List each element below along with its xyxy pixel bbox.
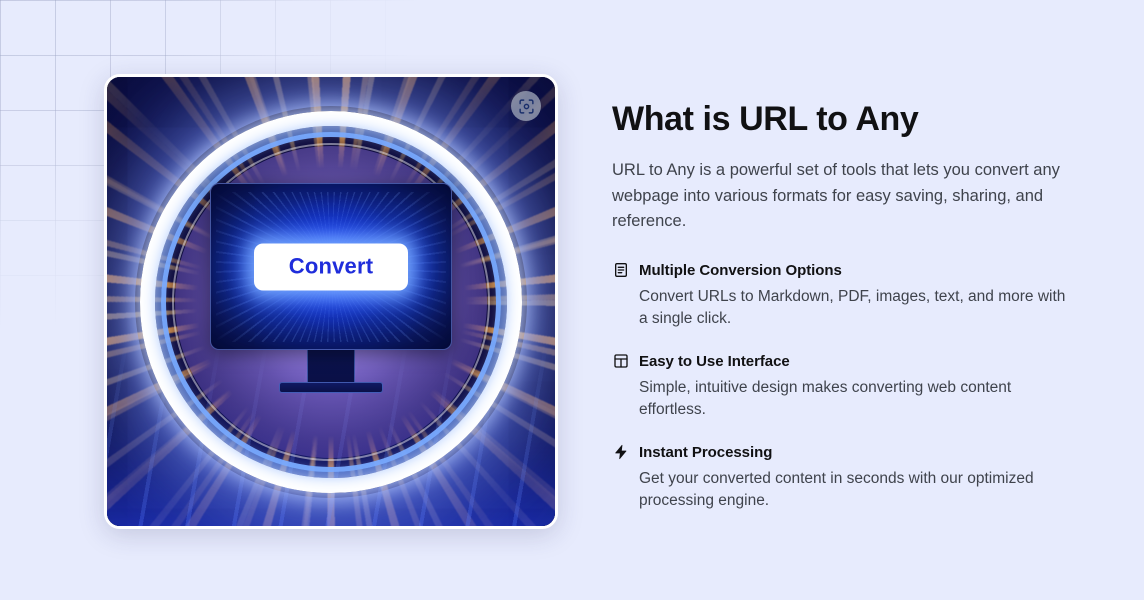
feature-description: Convert URLs to Markdown, PDF, images, t… (639, 286, 1074, 331)
scan-focus-badge-button[interactable] (511, 91, 541, 121)
feature-item-instant-processing: Instant Processing Get your converted co… (612, 444, 1082, 513)
monitor-screen: Convert (210, 183, 452, 350)
layout-panel-icon (612, 353, 629, 370)
hero-image-card[interactable]: Convert (104, 74, 558, 529)
convert-button-label: Convert (289, 254, 374, 280)
monitor-illustration: Convert (210, 183, 452, 393)
monitor-base (279, 382, 383, 393)
page-stage: Convert What is URL to Any URL t (0, 0, 1144, 600)
feature-item-multiple-conversion-options: Multiple Conversion Options Convert URLs… (612, 262, 1082, 331)
convert-button-illustration: Convert (254, 243, 408, 290)
monitor-neck (307, 348, 355, 382)
feature-header: Easy to Use Interface (612, 353, 1082, 370)
lightning-bolt-icon (612, 444, 629, 461)
hero-artwork: Convert (107, 77, 555, 526)
feature-title: Easy to Use Interface (639, 353, 790, 370)
feature-title: Multiple Conversion Options (639, 262, 842, 279)
feature-description: Get your converted content in seconds wi… (639, 468, 1074, 513)
intro-paragraph: URL to Any is a powerful set of tools th… (612, 158, 1064, 235)
feature-header: Instant Processing (612, 444, 1082, 461)
document-text-icon (612, 262, 629, 279)
feature-header: Multiple Conversion Options (612, 262, 1082, 279)
feature-description: Simple, intuitive design makes convertin… (639, 377, 1074, 422)
feature-title: Instant Processing (639, 444, 772, 461)
feature-item-easy-to-use-interface: Easy to Use Interface Simple, intuitive … (612, 353, 1082, 422)
content-column: What is URL to Any URL to Any is a power… (612, 100, 1082, 513)
page-title: What is URL to Any (612, 100, 1082, 139)
scan-focus-icon (518, 98, 535, 115)
